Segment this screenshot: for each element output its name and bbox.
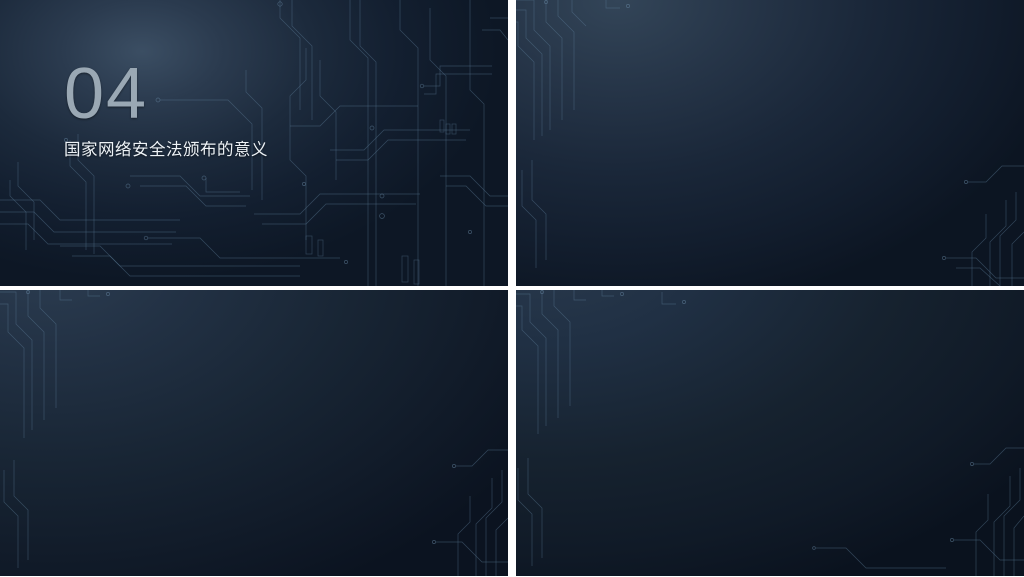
section-title: 国家网络安全法颁布的意义 [64, 136, 268, 160]
slide-2-background [516, 0, 1024, 286]
slide-deck-grid: 04 国家网络安全法颁布的意义 [0, 0, 1024, 577]
slide-4-background [516, 290, 1024, 576]
slide-4-point-two[interactable]: 2 助力网络空间治理，护航“互联网＋” [516, 290, 1024, 576]
slide-2-quote[interactable]: 习总书记指出： 没有网络安全就没有国家安全，没有信息化就没有现代化。《中华人民共… [516, 0, 1024, 286]
slide-3-background [0, 290, 508, 576]
section-number: 04 [64, 58, 148, 130]
slide-3-point-one[interactable]: 1 服务于国家网络安全战略和网络强国 [0, 290, 508, 576]
slide-1-section-cover[interactable]: 04 国家网络安全法颁布的意义 [0, 0, 508, 286]
